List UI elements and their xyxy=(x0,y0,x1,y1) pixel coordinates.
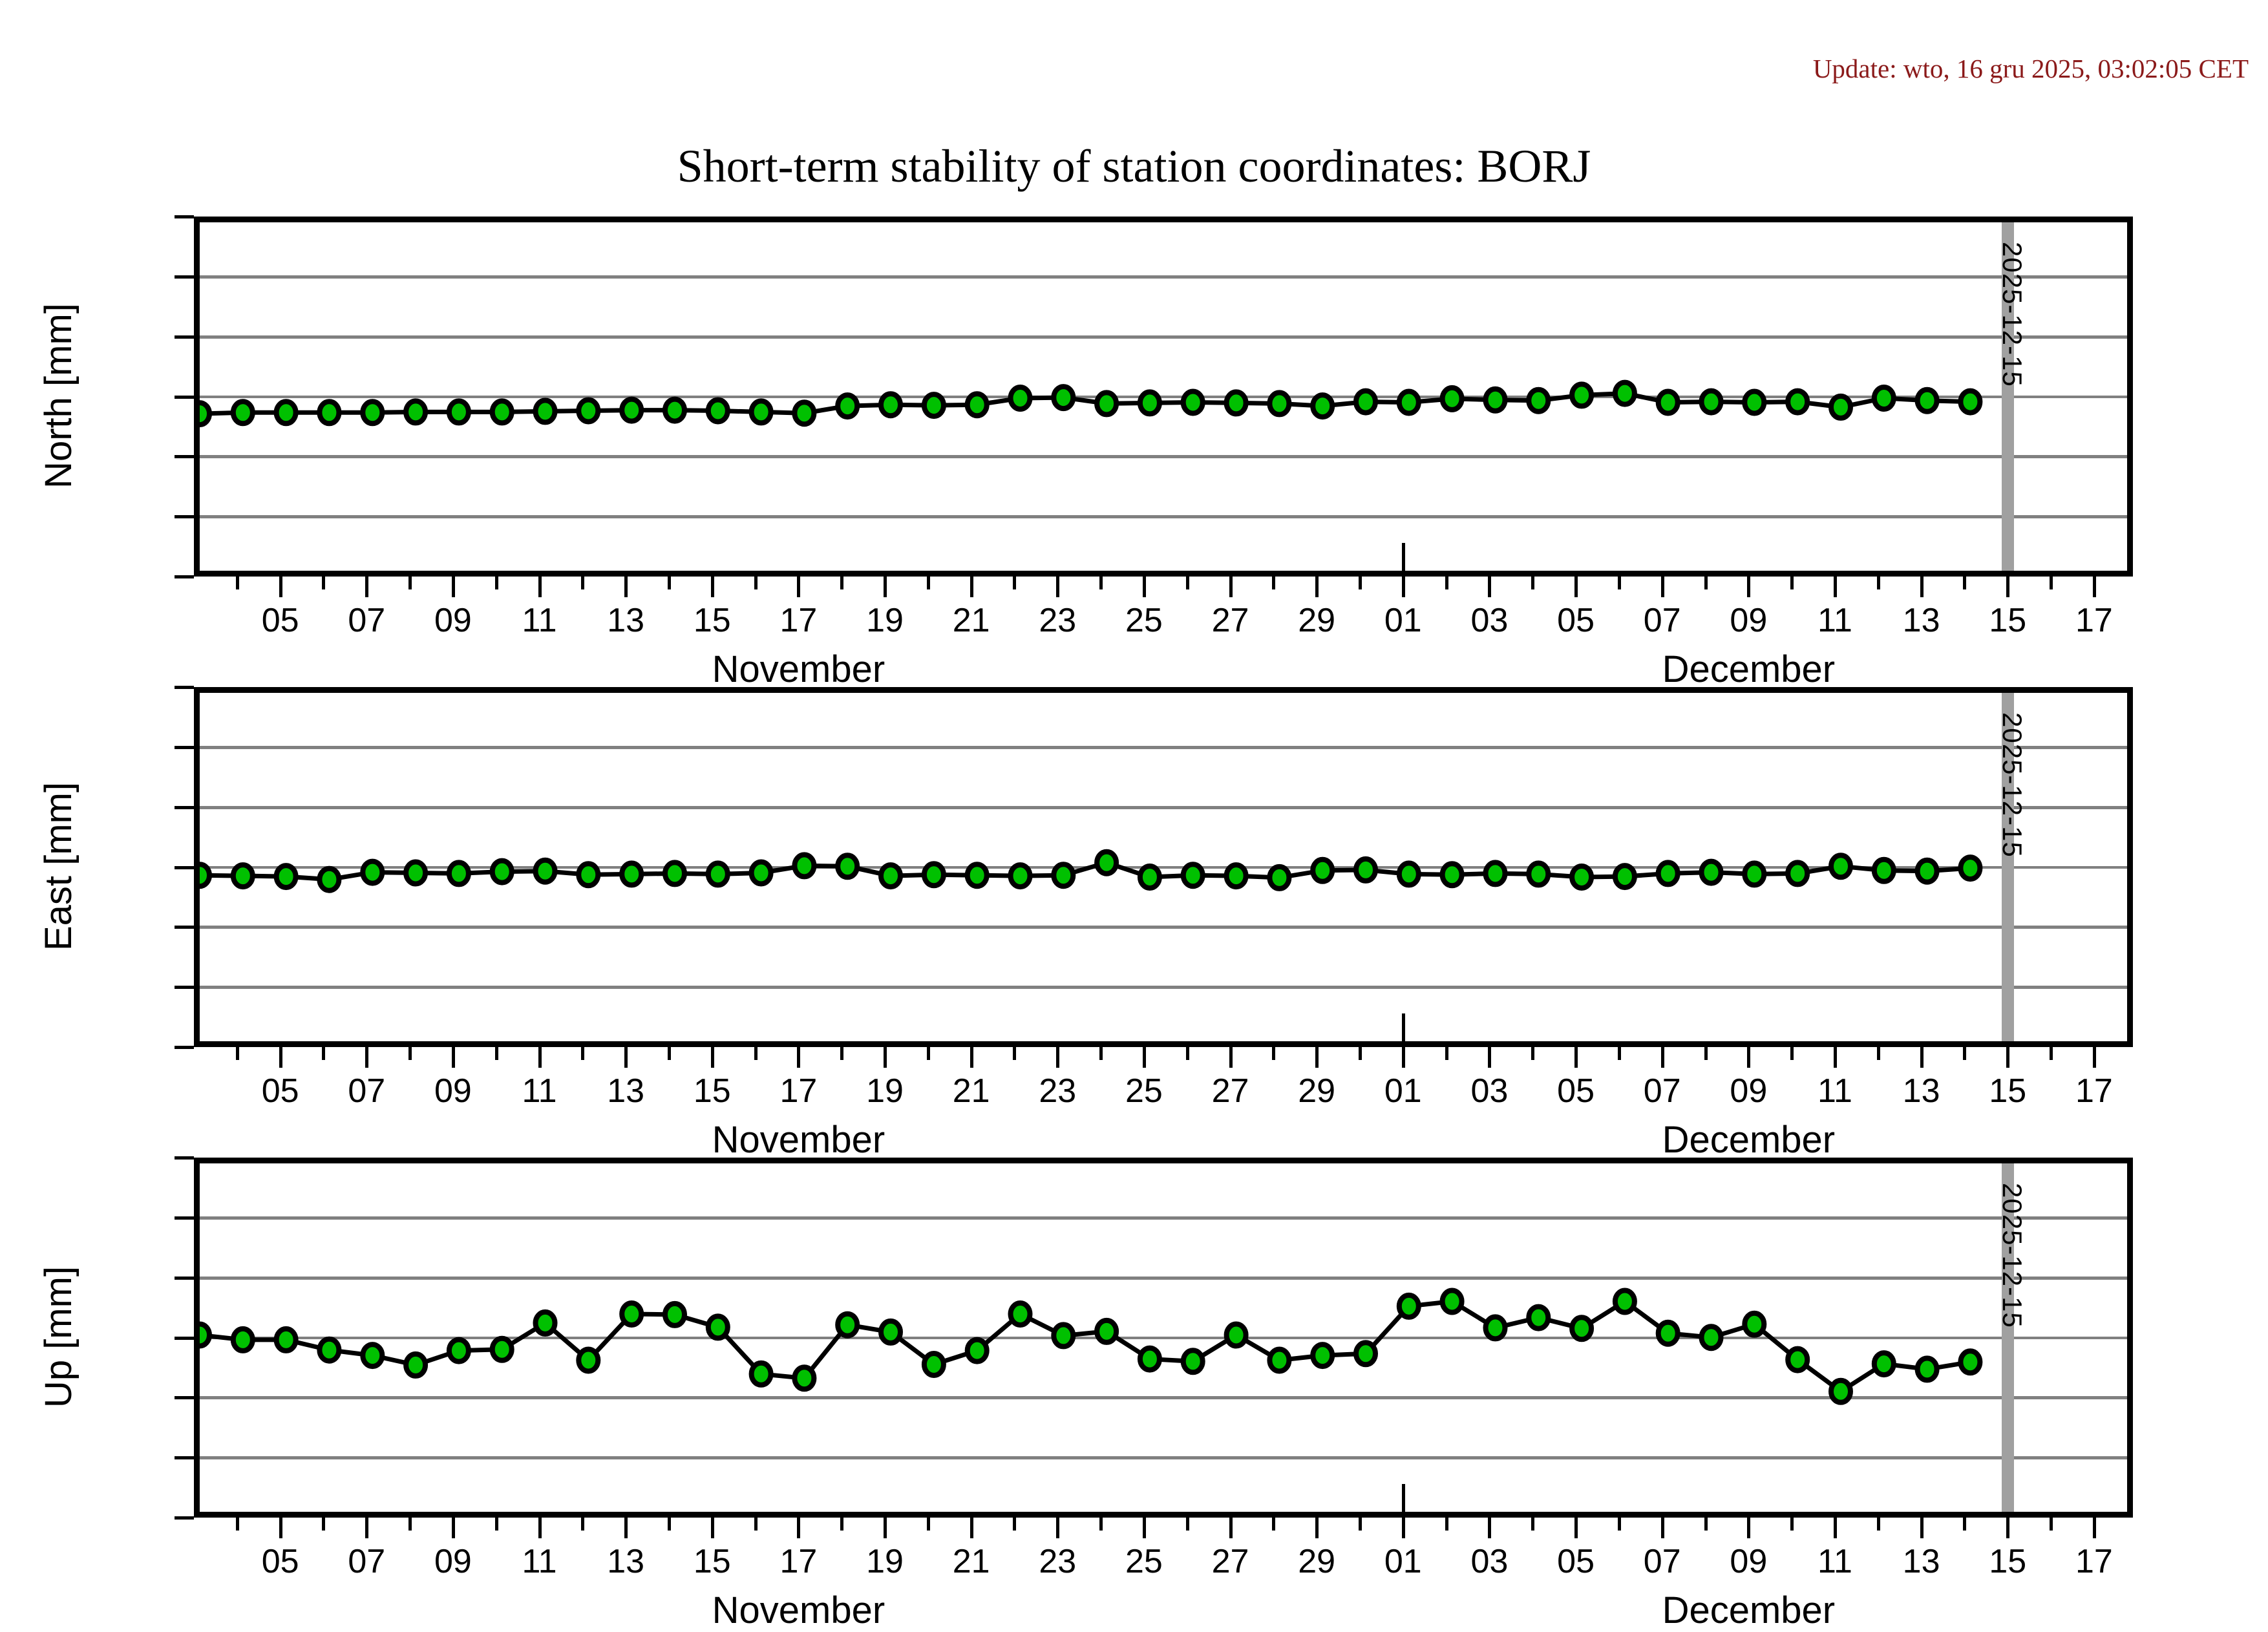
x-tick-label: 17 xyxy=(779,601,817,640)
data-point xyxy=(1572,1317,1591,1339)
x-tick-label: 13 xyxy=(1903,1072,1940,1110)
x-tick-mark-major xyxy=(365,577,368,597)
data-point xyxy=(319,1339,339,1361)
data-point xyxy=(1486,1317,1505,1339)
x-tick-mark-minor xyxy=(2050,577,2053,589)
data-point xyxy=(363,401,382,423)
data-point xyxy=(363,862,382,884)
x-tick-mark-minor xyxy=(1099,1518,1103,1531)
x-tick-mark-minor xyxy=(236,577,239,589)
x-tick-mark-major xyxy=(452,1518,455,1538)
x-tick-mark-minor xyxy=(1790,577,1794,589)
y-tick-mark xyxy=(175,1396,194,1399)
x-tick-label: 09 xyxy=(434,1072,472,1110)
plot-area-north: 2025-12-15 xyxy=(194,217,2133,577)
data-point xyxy=(1011,1303,1030,1325)
x-tick-mark-major xyxy=(1402,577,1405,597)
data-point xyxy=(1918,860,1937,882)
data-point xyxy=(1097,1320,1116,1342)
data-point xyxy=(200,1324,209,1346)
x-tick-mark-minor xyxy=(495,577,498,589)
data-point xyxy=(708,400,728,422)
x-tick-mark-major xyxy=(1315,577,1319,597)
x-tick-mark-major xyxy=(1143,577,1146,597)
series-up xyxy=(200,1163,2133,1518)
x-tick-mark-major xyxy=(365,1518,368,1538)
data-point xyxy=(1529,1307,1548,1329)
x-tick-label: 07 xyxy=(348,1072,385,1110)
x-tick-mark-minor xyxy=(1272,1518,1275,1531)
x-tick-mark-major xyxy=(2006,1518,2009,1538)
y-tick-mark xyxy=(175,575,194,578)
x-tick-mark-minor xyxy=(1359,1047,1362,1060)
x-tick-mark-major xyxy=(797,1518,800,1538)
y-tick-mark xyxy=(175,686,194,689)
x-tick-label: 25 xyxy=(1125,601,1163,640)
data-point xyxy=(968,394,987,416)
x-tick-label: 01 xyxy=(1384,1072,1422,1110)
x-tick-mark-minor xyxy=(236,1047,239,1060)
x-tick-mark-minor xyxy=(1618,577,1621,589)
data-point xyxy=(277,1329,296,1351)
data-point xyxy=(1054,1324,1073,1346)
data-point xyxy=(1399,863,1419,885)
data-point xyxy=(665,1304,684,1326)
x-tick-mark-minor xyxy=(2050,1047,2053,1060)
month-label: December xyxy=(1662,1589,1836,1632)
x-tick-mark-major xyxy=(797,577,800,597)
data-point xyxy=(277,401,296,423)
plot-area-east: 2025-12-15 xyxy=(194,687,2133,1047)
x-tick-mark-minor xyxy=(1445,1518,1448,1531)
data-point xyxy=(233,401,253,423)
month-label: December xyxy=(1662,648,1836,691)
data-point xyxy=(1744,1313,1764,1335)
x-tick-label: 17 xyxy=(2075,1072,2113,1110)
data-point xyxy=(449,401,469,423)
x-tick-label: 15 xyxy=(694,601,731,640)
x-tick-label: 27 xyxy=(1212,601,1249,640)
x-tick-label: 27 xyxy=(1212,1542,1249,1581)
data-point xyxy=(1227,392,1246,414)
data-point xyxy=(1615,383,1635,405)
data-point xyxy=(1874,1353,1894,1375)
data-point xyxy=(708,1316,728,1338)
data-point xyxy=(1572,384,1591,406)
y-tick-mark xyxy=(175,1277,194,1280)
data-point xyxy=(200,864,209,886)
x-tick-label: 13 xyxy=(607,601,644,640)
x-tick-mark-minor xyxy=(1445,1047,1448,1060)
x-tick-mark-major xyxy=(1661,577,1664,597)
y-tick-mark xyxy=(175,515,194,518)
x-tick-label: 23 xyxy=(1039,1542,1076,1581)
series-east xyxy=(200,693,2133,1047)
data-point xyxy=(881,394,900,416)
x-tick-mark-minor xyxy=(1877,1047,1880,1060)
x-tick-mark-minor xyxy=(1618,1518,1621,1531)
y-tick-mark xyxy=(175,926,194,929)
data-point xyxy=(1227,865,1246,887)
data-point xyxy=(1097,852,1116,874)
x-tick-label: 29 xyxy=(1298,1072,1335,1110)
y-tick-mark xyxy=(175,986,194,989)
data-point xyxy=(1356,1342,1375,1364)
data-point xyxy=(794,854,814,876)
data-point xyxy=(708,863,728,885)
x-tick-mark-major xyxy=(1747,577,1750,597)
month-label: November xyxy=(712,1589,885,1632)
x-tick-label: 07 xyxy=(348,1542,385,1581)
x-tick-label: 21 xyxy=(953,1072,990,1110)
data-point xyxy=(1960,1351,1980,1373)
x-tick-label: 15 xyxy=(1989,1542,2026,1581)
data-point xyxy=(968,864,987,886)
x-tick-mark-minor xyxy=(840,577,843,589)
x-tick-mark-minor xyxy=(2050,1518,2053,1531)
x-tick-label: 13 xyxy=(607,1542,644,1581)
x-tick-label: 15 xyxy=(694,1542,731,1581)
x-tick-label: 07 xyxy=(1644,601,1681,640)
data-point xyxy=(1399,392,1419,414)
x-tick-mark-minor xyxy=(840,1518,843,1531)
y-tick-mark xyxy=(175,335,194,339)
x-tick-mark-minor xyxy=(1790,1518,1794,1531)
x-tick-mark-minor xyxy=(581,577,584,589)
x-tick-mark-minor xyxy=(668,577,671,589)
data-point xyxy=(622,863,641,885)
x-tick-mark-major xyxy=(1920,1047,1924,1068)
x-tick-mark-minor xyxy=(1531,1518,1534,1531)
data-point xyxy=(1227,1324,1246,1346)
x-tick-label: 07 xyxy=(348,601,385,640)
month-label: November xyxy=(712,648,885,691)
x-tick-label: 01 xyxy=(1384,1542,1422,1581)
data-point xyxy=(1356,391,1375,413)
x-tick-mark-major xyxy=(1056,577,1059,597)
x-tick-mark-major xyxy=(1920,1518,1924,1538)
x-tick-mark-minor xyxy=(1531,577,1534,589)
data-point xyxy=(794,402,814,424)
x-tick-label: 01 xyxy=(1384,601,1422,640)
x-tick-mark-major xyxy=(2006,1047,2009,1068)
x-tick-mark-minor xyxy=(322,577,325,589)
data-point xyxy=(1486,389,1505,411)
data-point xyxy=(752,401,771,423)
data-point xyxy=(1183,1350,1203,1372)
data-point xyxy=(449,1340,469,1362)
page-title: Short-term stability of station coordina… xyxy=(0,140,2268,193)
y-axis-label-north: North [mm] xyxy=(37,216,80,576)
data-point xyxy=(752,862,771,884)
data-point xyxy=(1874,387,1894,409)
data-point xyxy=(752,1363,771,1385)
x-tick-mark-major xyxy=(1574,1518,1578,1538)
x-tick-mark-major xyxy=(452,577,455,597)
update-timestamp: Update: wto, 16 gru 2025, 03:02:05 CET xyxy=(1813,53,2249,84)
data-point xyxy=(1140,866,1160,888)
month-separator-tick xyxy=(1402,1484,1405,1518)
data-point xyxy=(200,403,209,425)
x-tick-mark-minor xyxy=(1272,577,1275,589)
x-tick-label: 15 xyxy=(1989,1072,2026,1110)
y-tick-mark xyxy=(175,215,194,218)
data-point xyxy=(924,394,944,416)
data-point xyxy=(1054,864,1073,886)
x-tick-mark-major xyxy=(1229,1518,1233,1538)
data-point xyxy=(924,1353,944,1375)
x-tick-mark-major xyxy=(1747,1518,1750,1538)
data-point xyxy=(1659,1322,1678,1344)
x-tick-mark-minor xyxy=(840,1047,843,1060)
x-tick-mark-major xyxy=(538,1518,542,1538)
x-tick-label: 19 xyxy=(866,1542,904,1581)
x-tick-label: 09 xyxy=(434,1542,472,1581)
data-point xyxy=(233,1329,253,1351)
x-tick-mark-major xyxy=(1315,1518,1319,1538)
x-tick-mark-minor xyxy=(1186,1518,1189,1531)
x-tick-mark-major xyxy=(1747,1047,1750,1068)
x-tick-label: 09 xyxy=(1730,1072,1767,1110)
data-point xyxy=(449,862,469,884)
x-tick-mark-minor xyxy=(1359,577,1362,589)
y-tick-mark xyxy=(175,746,194,749)
data-point xyxy=(838,1314,857,1336)
data-point xyxy=(493,1339,512,1361)
x-tick-label: 15 xyxy=(1989,601,2026,640)
data-point xyxy=(1183,864,1203,886)
x-tick-label: 05 xyxy=(262,1542,299,1581)
month-label: December xyxy=(1662,1118,1836,1161)
data-point xyxy=(924,864,944,885)
data-point xyxy=(1529,863,1548,885)
data-point xyxy=(1659,392,1678,414)
x-tick-label: 29 xyxy=(1298,601,1335,640)
x-tick-mark-minor xyxy=(408,1518,412,1531)
x-tick-label: 17 xyxy=(779,1072,817,1110)
x-tick-label: 11 xyxy=(1818,601,1852,640)
data-point xyxy=(1702,862,1721,884)
data-point xyxy=(319,869,339,891)
x-tick-mark-minor xyxy=(322,1518,325,1531)
x-tick-mark-major xyxy=(538,577,542,597)
x-tick-mark-minor xyxy=(1186,1047,1189,1060)
data-point xyxy=(1831,396,1850,418)
x-tick-mark-minor xyxy=(322,1047,325,1060)
y-tick-mark xyxy=(175,1216,194,1220)
x-tick-label: 07 xyxy=(1644,1072,1681,1110)
x-tick-mark-major xyxy=(2093,1518,2096,1538)
data-point xyxy=(1529,390,1548,412)
x-tick-mark-major xyxy=(452,1047,455,1068)
x-tick-mark-major xyxy=(797,1047,800,1068)
x-tick-mark-major xyxy=(884,577,887,597)
x-tick-label: 13 xyxy=(1903,1542,1940,1581)
data-point xyxy=(578,864,598,885)
x-tick-label: 11 xyxy=(1818,1542,1852,1581)
x-tick-mark-major xyxy=(970,1518,973,1538)
x-tick-mark-minor xyxy=(1272,1047,1275,1060)
x-tick-label: 11 xyxy=(522,1542,557,1581)
x-tick-mark-major xyxy=(1488,577,1491,597)
data-point xyxy=(1313,860,1332,882)
x-tick-mark-minor xyxy=(1963,1518,1966,1531)
y-tick-mark xyxy=(175,1046,194,1049)
x-tick-mark-minor xyxy=(1963,577,1966,589)
x-tick-label: 29 xyxy=(1298,1542,1335,1581)
data-point xyxy=(1918,390,1937,412)
x-tick-mark-major xyxy=(970,577,973,597)
x-tick-mark-major xyxy=(1056,1047,1059,1068)
data-point xyxy=(1443,1291,1462,1313)
x-tick-mark-minor xyxy=(1186,577,1189,589)
y-tick-mark xyxy=(175,806,194,809)
y-axis-label-up: Up [mm] xyxy=(37,1157,80,1517)
data-point xyxy=(1011,387,1030,409)
y-axis-label-east: East [mm] xyxy=(37,686,80,1046)
x-tick-label: 09 xyxy=(1730,1542,1767,1581)
x-tick-mark-minor xyxy=(927,1047,930,1060)
x-tick-label: 11 xyxy=(1818,1072,1852,1110)
data-point xyxy=(1140,392,1160,414)
x-tick-mark-minor xyxy=(1531,1047,1534,1060)
x-tick-mark-major xyxy=(2006,577,2009,597)
data-point xyxy=(1788,862,1807,884)
x-tick-mark-minor xyxy=(495,1518,498,1531)
x-tick-label: 03 xyxy=(1471,1542,1509,1581)
data-point xyxy=(1486,862,1505,884)
x-tick-mark-minor xyxy=(1877,577,1880,589)
x-tick-mark-minor xyxy=(754,577,758,589)
data-point xyxy=(1269,1350,1289,1372)
x-tick-mark-minor xyxy=(927,1518,930,1531)
data-point xyxy=(881,1321,900,1343)
x-tick-mark-minor xyxy=(408,577,412,589)
x-tick-label: 05 xyxy=(1557,1542,1595,1581)
plot-area-up: 2025-12-15 xyxy=(194,1158,2133,1518)
data-point xyxy=(1960,391,1980,413)
x-tick-label: 19 xyxy=(866,1072,904,1110)
x-tick-mark-major xyxy=(1661,1047,1664,1068)
data-point xyxy=(1356,859,1375,881)
x-tick-mark-minor xyxy=(1877,1518,1880,1531)
data-point xyxy=(1788,391,1807,413)
data-point xyxy=(1659,862,1678,884)
x-tick-label: 09 xyxy=(1730,601,1767,640)
data-point xyxy=(1874,860,1894,882)
x-tick-mark-minor xyxy=(1013,577,1016,589)
data-point xyxy=(1788,1349,1807,1371)
data-point xyxy=(838,855,857,877)
x-tick-label: 21 xyxy=(953,601,990,640)
x-tick-mark-minor xyxy=(236,1518,239,1531)
x-tick-label: 27 xyxy=(1212,1072,1249,1110)
data-point xyxy=(363,1344,382,1366)
x-tick-label: 03 xyxy=(1471,601,1509,640)
x-tick-mark-major xyxy=(1229,1047,1233,1068)
x-tick-mark-major xyxy=(711,1518,714,1538)
x-tick-label: 07 xyxy=(1644,1542,1681,1581)
data-point xyxy=(1702,391,1721,413)
data-point xyxy=(1269,392,1289,414)
x-tick-mark-major xyxy=(1488,1047,1491,1068)
data-point xyxy=(1443,388,1462,410)
x-tick-mark-minor xyxy=(1099,1047,1103,1060)
data-point xyxy=(665,399,684,421)
month-separator-tick xyxy=(1402,543,1405,577)
x-tick-label: 15 xyxy=(694,1072,731,1110)
x-tick-label: 05 xyxy=(262,1072,299,1110)
data-point xyxy=(1615,1291,1635,1313)
x-tick-mark-major xyxy=(1315,1047,1319,1068)
x-tick-label: 25 xyxy=(1125,1072,1163,1110)
data-point xyxy=(233,865,253,887)
month-label: November xyxy=(712,1118,885,1161)
data-point xyxy=(1313,1344,1332,1366)
y-tick-mark xyxy=(175,396,194,399)
x-tick-label: 05 xyxy=(262,601,299,640)
data-point xyxy=(881,865,900,887)
data-point xyxy=(1011,865,1030,887)
x-tick-mark-major xyxy=(1229,577,1233,597)
x-tick-label: 13 xyxy=(607,1072,644,1110)
data-point xyxy=(968,1340,987,1362)
data-point xyxy=(1572,866,1591,888)
data-point xyxy=(1097,392,1116,414)
data-point xyxy=(1702,1326,1721,1348)
y-tick-mark xyxy=(175,455,194,458)
series-north xyxy=(200,222,2133,577)
x-tick-mark-minor xyxy=(1618,1047,1621,1060)
x-tick-mark-minor xyxy=(1099,577,1103,589)
x-tick-mark-major xyxy=(1834,577,1837,597)
x-tick-mark-minor xyxy=(581,1047,584,1060)
x-tick-label: 17 xyxy=(2075,601,2113,640)
data-point xyxy=(1443,864,1462,885)
data-point xyxy=(1744,863,1764,885)
x-tick-mark-major xyxy=(1143,1047,1146,1068)
x-tick-label: 05 xyxy=(1557,1072,1595,1110)
x-tick-label: 19 xyxy=(866,601,904,640)
x-tick-mark-major xyxy=(1920,577,1924,597)
data-point xyxy=(578,400,598,422)
y-tick-mark xyxy=(175,1156,194,1160)
data-point xyxy=(1269,867,1289,889)
x-tick-label: 25 xyxy=(1125,1542,1163,1581)
x-tick-mark-major xyxy=(279,1047,282,1068)
data-point xyxy=(493,401,512,423)
x-tick-label: 17 xyxy=(2075,1542,2113,1581)
x-tick-label: 05 xyxy=(1557,601,1595,640)
x-tick-mark-major xyxy=(365,1047,368,1068)
x-tick-label: 21 xyxy=(953,1542,990,1581)
x-tick-mark-minor xyxy=(1013,1047,1016,1060)
x-tick-mark-minor xyxy=(1359,1518,1362,1531)
data-point xyxy=(838,395,857,417)
data-point xyxy=(622,399,641,421)
x-tick-mark-minor xyxy=(754,1047,758,1060)
x-tick-mark-major xyxy=(1574,577,1578,597)
data-point xyxy=(1313,395,1332,417)
data-point xyxy=(319,401,339,423)
x-tick-mark-major xyxy=(279,1518,282,1538)
x-tick-mark-major xyxy=(711,577,714,597)
data-point xyxy=(794,1367,814,1389)
data-point xyxy=(1744,392,1764,414)
x-tick-mark-major xyxy=(1834,1047,1837,1068)
data-point xyxy=(536,860,555,882)
data-point xyxy=(493,861,512,883)
